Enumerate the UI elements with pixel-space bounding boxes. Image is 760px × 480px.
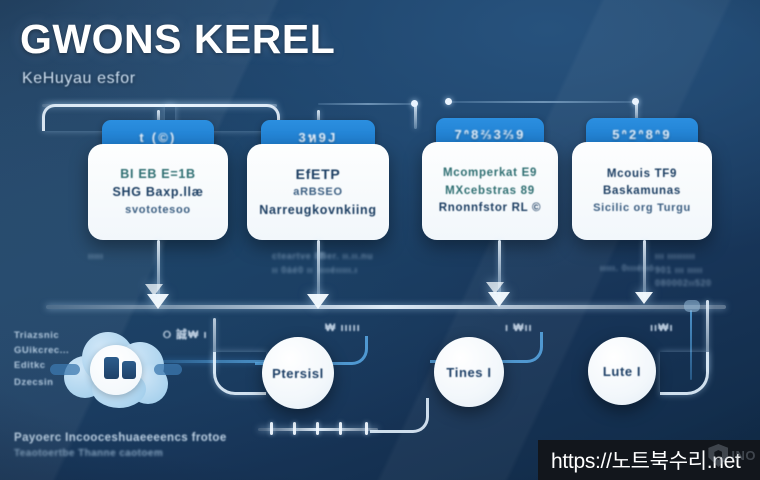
card-4-line-1: Mcouis TF9 — [607, 167, 677, 181]
cloud-pill-left — [50, 364, 80, 375]
rail-dot-3 — [632, 98, 639, 105]
node-3-label: Lute I — [603, 364, 641, 379]
card-3-tab-label: 7ᐢ8⅔3⅔9 — [454, 127, 525, 143]
watermark-bar: https://노트북수리.net INO — [538, 440, 760, 480]
card-1-body: BI EB E=1B SHG Baxp.llæ svototesoo — [88, 144, 228, 240]
ghost-text-4: ııı ııııııııı 901 ııı ııııı 080002ıı520 — [655, 250, 712, 291]
card-1-line-3: svototesoo — [125, 204, 191, 218]
footer-line-2: Teaotoertbe Thanne caotoem — [14, 448, 163, 459]
card-2-line-2: aRBSEO — [293, 186, 342, 200]
arrow-down-3 — [488, 292, 510, 307]
card-2-body: EfETP aRBSEO Narreugkovnkiing — [247, 144, 389, 240]
pipe-cap-icon — [684, 300, 700, 312]
connector-label-4: ıı₩ı — [650, 322, 674, 334]
loop-bend-left — [213, 352, 266, 395]
card-4-line-3: Sicilic org Turgu — [593, 202, 691, 216]
arrow-down-1 — [147, 294, 169, 309]
rail-top-dim-1 — [318, 103, 418, 105]
cloud-label-2: GUikcrec... — [14, 345, 69, 356]
node-2[interactable]: Tines I — [434, 337, 504, 407]
card-4[interactable]: 5ᐢ2ᐢ8ᐢ9 Mcouis TF9 Baskamunas Sicilic or… — [572, 118, 712, 240]
page-subtitle: KeHuyau esfor — [22, 70, 136, 88]
arrow-down-1b — [145, 284, 163, 296]
card-1-tab-label: t (©) — [139, 130, 176, 145]
card-3-body: Mcomperkat E9 MXcebstras 89 Rnonnfstor R… — [422, 142, 558, 240]
card-3-line-3: Rnonnfstor RL © — [439, 201, 541, 215]
cloud-label-4: Dzecsin — [14, 377, 53, 388]
shield-icon — [708, 444, 728, 467]
rail-dot-2 — [445, 98, 452, 105]
arrow-down-2 — [307, 294, 329, 309]
rail-tick-4 — [339, 422, 342, 435]
node-1[interactable]: Ptersisl — [262, 337, 334, 409]
cloud-label-3: Editkc — [14, 360, 46, 371]
ghost-text-2: Tier. ıı.ıı.nu ııııéııııı.ı — [318, 250, 373, 277]
diagram-canvas: GWONS KEREL KeHuyau esfor t (©) BI EB E=… — [0, 0, 760, 480]
rail-dot-1 — [411, 100, 418, 107]
rail-tick-2 — [293, 422, 296, 435]
cloud-label-1: Triazsnic — [14, 330, 59, 341]
rail-top-dim-2 — [448, 101, 638, 103]
card-2-line-3: Narreugkovnkiing — [259, 203, 376, 219]
node-1-label: Ptersisl — [272, 366, 324, 381]
arrow-down-3b — [486, 282, 504, 294]
card-3-line-1: Mcomperkat E9 — [443, 166, 537, 180]
card-1-line-1: BI EB E=1B — [120, 167, 195, 183]
cloud-icon[interactable] — [58, 326, 174, 412]
card-1[interactable]: t (©) BI EB E=1B SHG Baxp.llæ svototesoo — [88, 120, 228, 240]
node-3[interactable]: Lute I — [588, 337, 656, 405]
watermark-logo: INO — [708, 444, 756, 467]
card-2[interactable]: 3ห9J EfETP aRBSEO Narreugkovnkiing — [247, 120, 389, 240]
server-icon-right — [122, 361, 136, 379]
loop-bend-bottom — [370, 398, 429, 433]
card-3-line-2: MXcebstras 89 — [445, 184, 535, 198]
page-title: GWONS KEREL — [20, 16, 335, 63]
ghost-text-3: ııııı. 0ıııéııó — [600, 262, 655, 276]
rail-tick-5 — [365, 422, 368, 435]
cloud-pill-right — [154, 364, 182, 375]
rail-top-primary — [42, 104, 277, 107]
ghost-text-5: ııııı — [88, 250, 104, 264]
card-3[interactable]: 7ᐢ8⅔3⅔9 Mcomperkat E9 MXcebstras 89 Rnon… — [422, 118, 558, 240]
watermark-logo-text: INO — [731, 448, 756, 463]
connector-label-2: ₩ ııııı — [325, 322, 361, 334]
card-2-line-1: EfETP — [296, 166, 341, 184]
card-4-tab-label: 5ᐢ2ᐢ8ᐢ9 — [612, 127, 672, 143]
node-2-label: Tines I — [446, 365, 491, 380]
server-icon-left — [104, 357, 119, 379]
card-4-body: Mcouis TF9 Baskamunas Sicilic org Turgu — [572, 142, 712, 240]
arrow-down-4 — [635, 292, 653, 304]
footer-line-1: Payoerc Incooceshuaeeeencs frotoe — [14, 432, 227, 444]
card-4-line-2: Baskamunas — [603, 184, 681, 198]
card-1-line-2: SHG Baxp.llæ — [112, 185, 203, 201]
rail-tick-3 — [316, 422, 319, 435]
loop-bend-right — [660, 352, 709, 395]
rail-tick-1 — [270, 422, 273, 435]
